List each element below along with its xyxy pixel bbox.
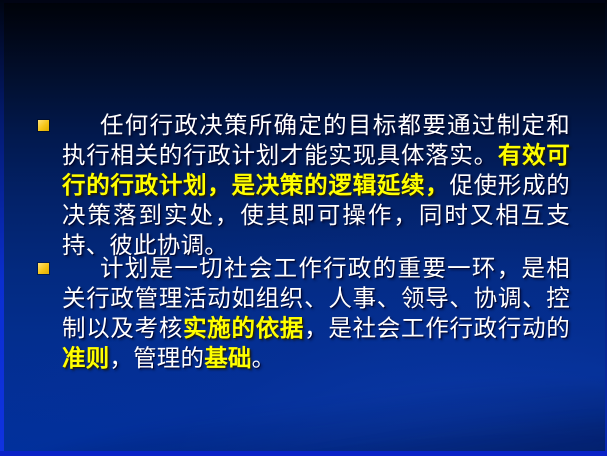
- presentation-slide: 任何行政决策所确定的目标都要通过制定和执行相关的行政计划才能实现具体落实。有效可…: [0, 0, 607, 456]
- text-run-2-7: 。: [252, 344, 276, 372]
- bullet-paragraph-1: 任何行政决策所确定的目标都要通过制定和执行相关的行政计划才能实现具体落实。有效可…: [36, 110, 570, 260]
- text-run-2-5: ，管理的: [109, 344, 204, 372]
- bullet-square-icon-2: [38, 263, 49, 274]
- text-run-2-2: 实施的依据: [183, 314, 304, 342]
- paragraph-text-1: 任何行政决策所确定的目标都要通过制定和执行相关的行政计划才能实现具体落实。有效可…: [36, 110, 570, 260]
- bullet-paragraph-2: 计划是一切社会工作行政的重要一环，是相关行政管理活动如组织、人事、领导、协调、控…: [36, 253, 570, 373]
- paragraph-text-2: 计划是一切社会工作行政的重要一环，是相关行政管理活动如组织、人事、领导、协调、控…: [36, 253, 570, 373]
- slide-content: 任何行政决策所确定的目标都要通过制定和执行相关的行政计划才能实现具体落实。有效可…: [0, 0, 607, 456]
- text-run-1-1: 任何行政决策所确定的目标都要通过制定和执行相关的行政计划才能实现具体落实。: [62, 111, 570, 169]
- text-run-2-3: ，是社会工作行政行动的: [304, 314, 570, 342]
- bullet-square-icon-1: [38, 120, 49, 131]
- text-run-2-6: 基础: [204, 344, 251, 372]
- text-run-2-4: 准则: [62, 344, 109, 372]
